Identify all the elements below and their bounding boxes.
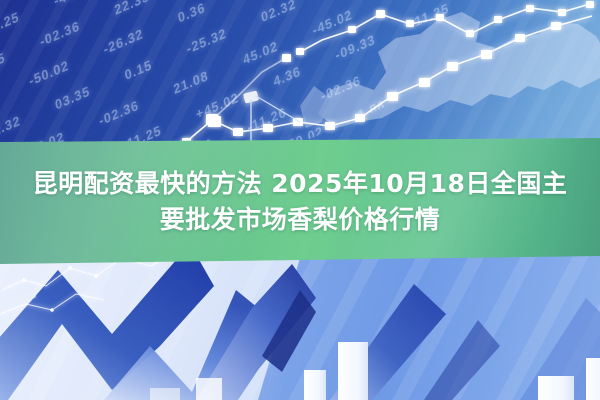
title-line-1: 昆明配资最快的方法 2025年10月18日全国主 [33, 169, 568, 199]
title-line-2: 要批发市场香梨价格行情 [160, 205, 441, 235]
bar-chart-graphic [0, 330, 600, 400]
banner-image: -45.02-02.3621.0845.02-45.02-02.36-11.25… [0, 0, 600, 400]
banner-title: 昆明配资最快的方法 2025年10月18日全国主 要批发市场香梨价格行情 [0, 150, 600, 254]
